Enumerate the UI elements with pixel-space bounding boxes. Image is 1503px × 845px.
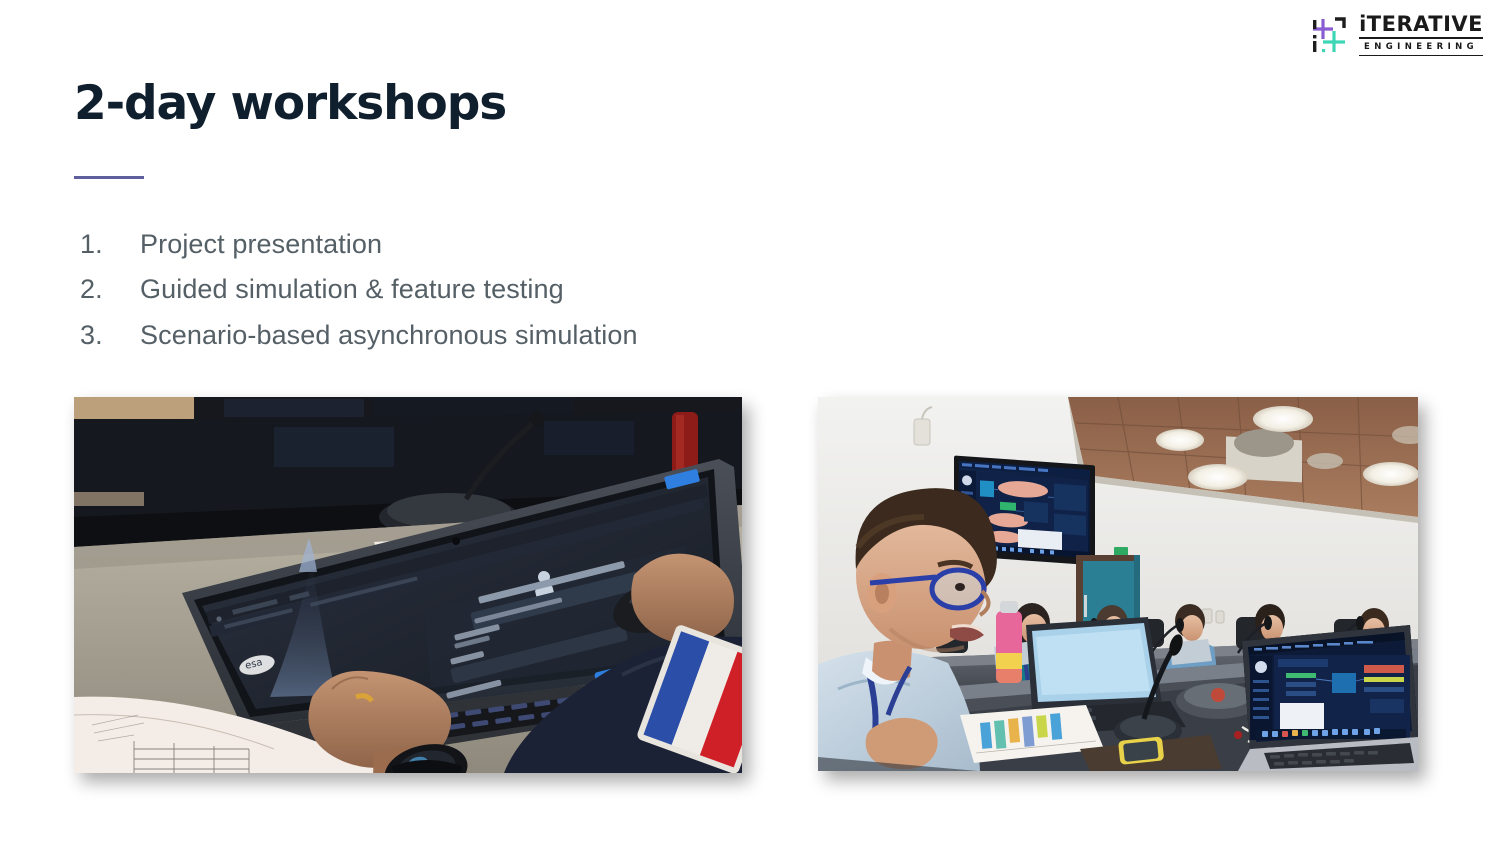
photo-left-illustration: esa xyxy=(74,397,742,773)
photo-right-illustration xyxy=(818,397,1418,771)
logo-wordmark: iTERATIVE ENGINEERING xyxy=(1359,14,1483,56)
logo-subtitle: ENGINEERING xyxy=(1359,39,1483,56)
list-item: 3. Scenario-based asynchronous simulatio… xyxy=(80,313,638,358)
logo-mark-icon xyxy=(1309,16,1349,54)
workshop-agenda-list: 1. Project presentation 2. Guided simula… xyxy=(80,222,638,358)
list-item: 2. Guided simulation & feature testing xyxy=(80,267,638,312)
page-title: 2-day workshops xyxy=(74,78,506,130)
list-item: 1. Project presentation xyxy=(80,222,638,267)
list-item-label: Project presentation xyxy=(140,222,382,267)
photo-workshop-laptop-login: esa xyxy=(74,397,742,773)
list-item-number: 3. xyxy=(80,313,140,358)
list-item-number: 2. xyxy=(80,267,140,312)
brand-logo: iTERATIVE ENGINEERING xyxy=(1309,14,1483,56)
list-item-label: Scenario-based asynchronous simulation xyxy=(140,313,638,358)
list-item-number: 1. xyxy=(80,222,140,267)
photo-workshop-conference-room xyxy=(818,397,1418,771)
logo-word: iTERATIVE xyxy=(1359,14,1483,39)
list-item-label: Guided simulation & feature testing xyxy=(140,267,564,312)
title-divider xyxy=(74,176,144,179)
